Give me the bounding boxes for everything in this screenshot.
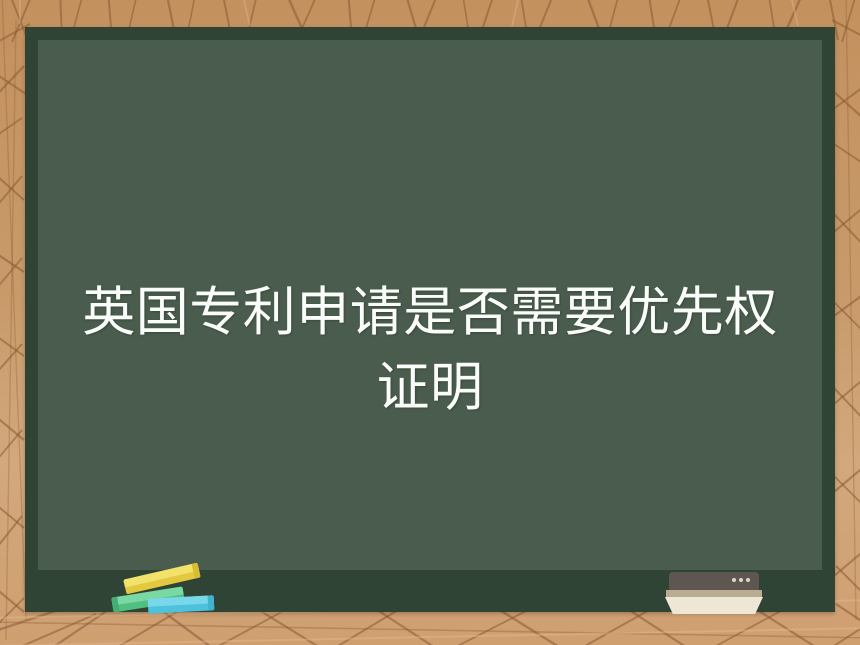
eraser-band [666,590,762,598]
eraser-dots [732,578,750,582]
eraser-dot [732,578,736,582]
blackboard-surface: 英国专利申请是否需要优先权证明 [38,40,822,570]
slide-title-container: 英国专利申请是否需要优先权证明 [38,276,822,427]
eraser-dot [739,578,743,582]
chalk-blue [148,595,215,613]
slide-canvas: 英国专利申请是否需要优先权证明 [0,0,860,645]
chalkboard-eraser-icon [665,572,763,614]
chalk-blue-tip [208,595,215,610]
page-title: 英国专利申请是否需要优先权证明 [68,276,792,427]
eraser-dot [746,578,750,582]
eraser-handle [669,572,759,590]
blackboard-frame: 英国专利申请是否需要优先权证明 [25,27,835,612]
eraser-felt [665,597,763,614]
